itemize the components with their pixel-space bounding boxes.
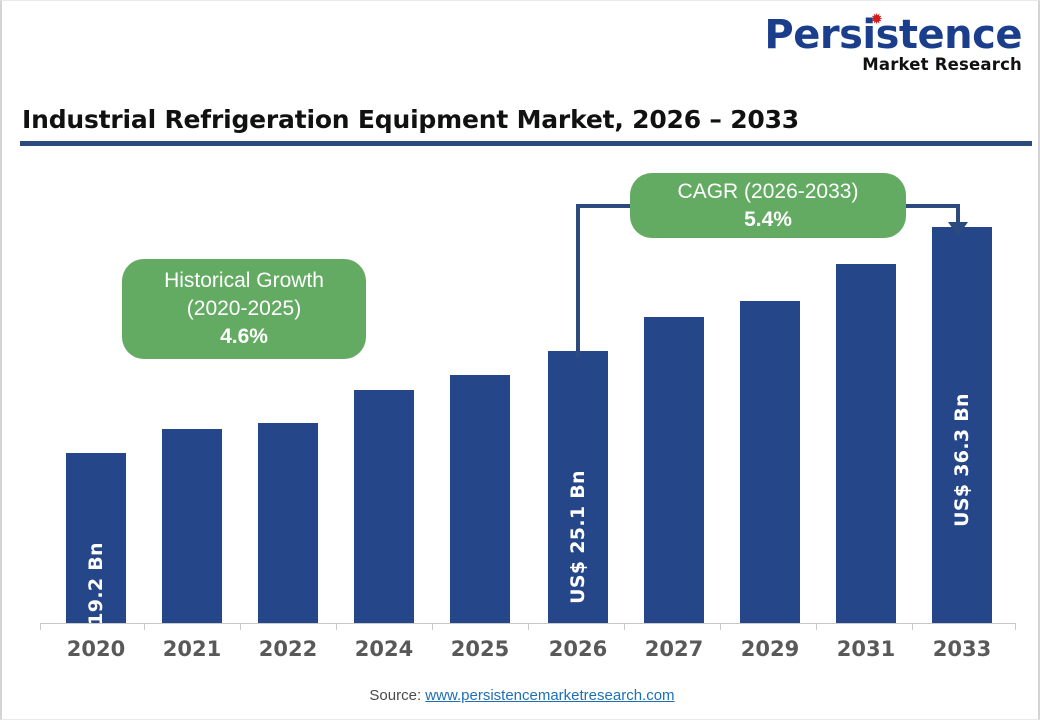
x-axis-tick — [40, 623, 41, 630]
x-axis-tick — [432, 623, 433, 630]
x-axis-tick — [528, 623, 529, 630]
chart-page: Persistence ✹ Market Research Industrial… — [0, 0, 1040, 720]
source-prefix: Source: — [369, 687, 425, 704]
x-axis-tick — [816, 623, 817, 630]
x-axis-tick — [912, 623, 913, 630]
bar-2029[interactable] — [740, 301, 800, 623]
cagr-value: 5.4% — [744, 206, 792, 234]
x-axis-tick — [144, 623, 145, 630]
bar-2026[interactable]: US$ 25.1 Bn — [548, 351, 608, 623]
bar-2033[interactable]: US$ 36.3 Bn — [932, 227, 992, 623]
bar-2027[interactable] — [644, 317, 704, 623]
historical-growth-period: (2020-2025) — [187, 295, 301, 323]
bar-value-label-2026: US$ 25.1 Bn — [567, 470, 589, 604]
bar-2021[interactable] — [162, 429, 222, 623]
x-axis-tick — [720, 623, 721, 630]
cagr-callout: CAGR (2026-2033) 5.4% — [630, 173, 906, 238]
cagr-connector-left-vertical — [576, 204, 580, 358]
bar-2031[interactable] — [836, 264, 896, 623]
historical-growth-title: Historical Growth — [164, 267, 324, 295]
source-line: Source: www.persistencemarketresearch.co… — [2, 687, 1040, 704]
bar-2024[interactable] — [354, 390, 414, 623]
x-axis-tick — [1015, 623, 1016, 630]
bar-2020[interactable]: US$ 19.2 Bn — [66, 453, 126, 623]
cagr-title: CAGR (2026-2033) — [678, 178, 859, 206]
bar-chart: US$ 19.2 Bn US$ 25.1 Bn US$ 36.3 Bn 2020… — [2, 1, 1040, 720]
x-axis-tick — [240, 623, 241, 630]
bar-2022[interactable] — [258, 423, 318, 623]
x-axis-tick — [336, 623, 337, 630]
x-axis-tick — [624, 623, 625, 630]
bar-value-label-2033: US$ 36.3 Bn — [951, 393, 973, 527]
source-url-link[interactable]: www.persistencemarketresearch.com — [425, 687, 674, 704]
x-axis-label-2033: 2033 — [902, 637, 1022, 661]
bar-2025[interactable] — [450, 375, 510, 623]
historical-growth-value: 4.6% — [220, 323, 268, 351]
arrow-down-icon — [948, 222, 968, 236]
historical-growth-callout: Historical Growth (2020-2025) 4.6% — [122, 259, 366, 359]
